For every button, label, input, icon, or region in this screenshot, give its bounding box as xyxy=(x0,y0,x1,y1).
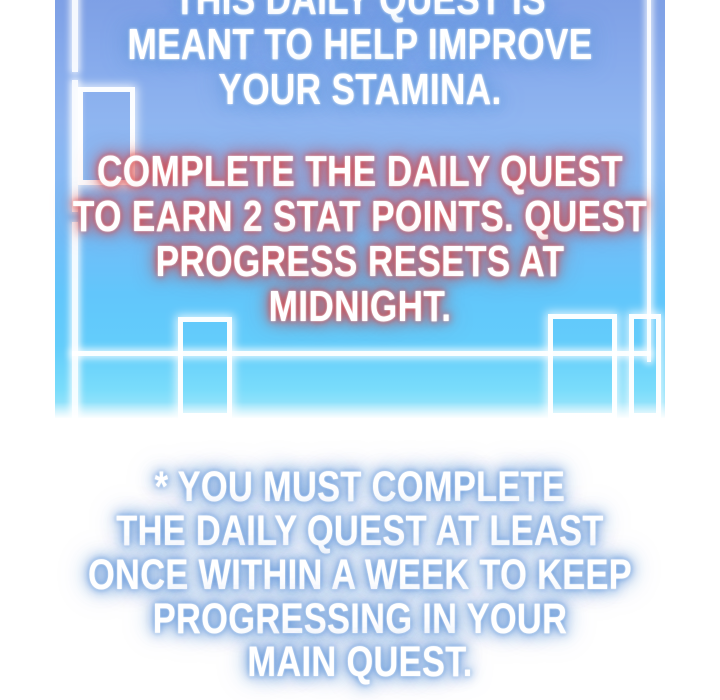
frame-decor-tab-bottom-far-right xyxy=(629,314,661,418)
quest-stamina-message: THIS DAILY QUEST IS MEANT TO HELP IMPROV… xyxy=(72,0,648,113)
quest-footnote-message: * YOU MUST COMPLETE THE DAILY QUEST AT L… xyxy=(72,466,648,685)
system-quest-window: THIS DAILY QUEST IS MEANT TO HELP IMPROV… xyxy=(0,0,720,700)
frame-decor-tab-bottom-left xyxy=(178,317,232,418)
quest-reward-message: COMPLETE THE DAILY QUEST TO EARN 2 STAT … xyxy=(72,150,648,330)
frame-decor-tab-bottom-right xyxy=(548,314,617,418)
